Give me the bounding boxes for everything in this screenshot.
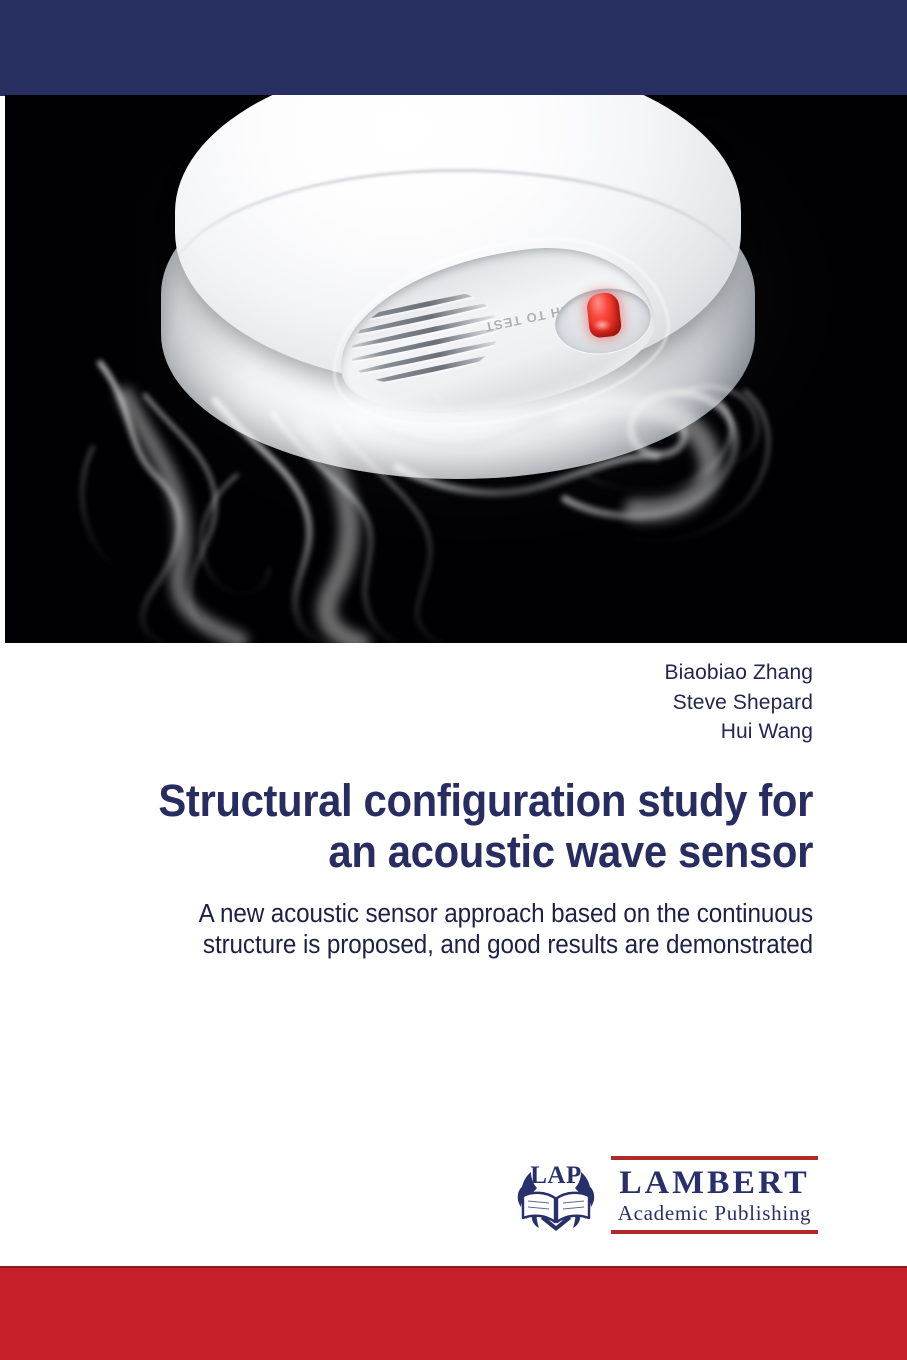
author-name: Hui Wang [90,717,813,747]
logo-rule-top [611,1156,818,1160]
publisher-tagline: Academic Publishing [611,1201,818,1225]
detector-red-led [586,291,622,338]
book-title: Structural configuration study for an ac… [141,775,813,877]
bottom-red-band [0,1266,907,1360]
publisher-logo: LAP LAMBERT Academic Publishing [513,1152,818,1234]
author-name: Biaobiao Zhang [90,658,813,688]
author-name: Steve Shepard [90,688,813,718]
svg-text:LAP: LAP [530,1162,582,1189]
cover-photo-inner: PUSH TO TEST [5,95,907,643]
book-cover: PUSH TO TEST [0,0,907,1360]
author-list: Biaobiao Zhang Steve Shepard Hui Wang [90,658,813,747]
publisher-name: LAMBERT [609,1165,820,1201]
detector-led-highlight [593,319,611,331]
logo-rule-bottom [611,1230,818,1234]
publisher-wordmark: LAMBERT Academic Publishing [611,1156,818,1234]
cover-text-block: Biaobiao Zhang Steve Shepard Hui Wang St… [90,658,813,961]
book-subtitle: A new acoustic sensor approach based on … [126,899,813,961]
lap-emblem-icon: LAP [513,1152,599,1234]
top-navy-band [0,0,907,96]
smoke-detector-device: PUSH TO TEST [153,95,763,527]
cover-photo: PUSH TO TEST [5,95,907,643]
